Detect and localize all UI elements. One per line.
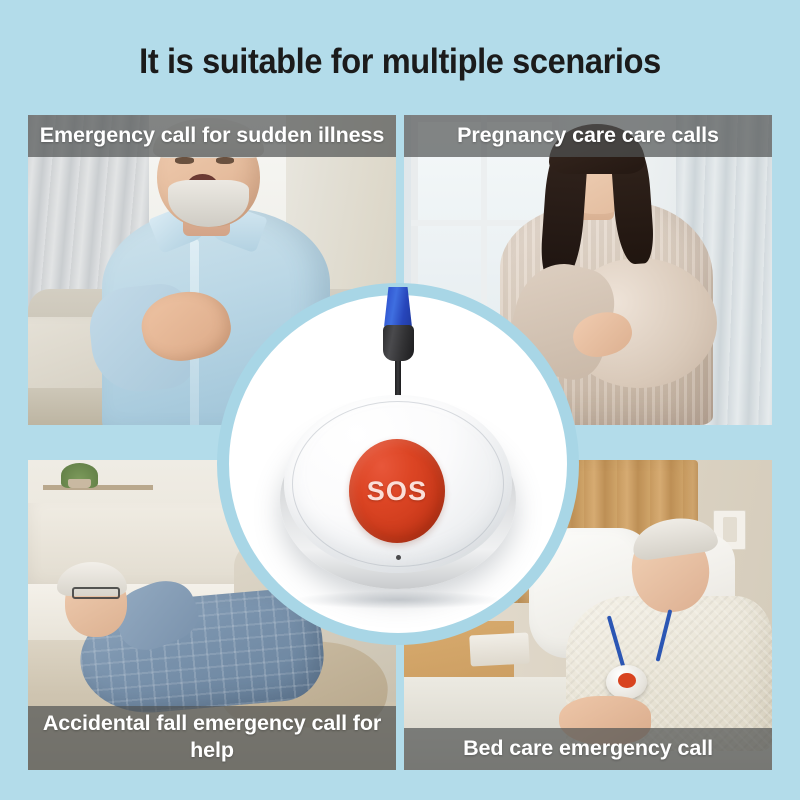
antenna-cap-icon [384, 287, 412, 327]
page-title: It is suitable for multiple scenarios [28, 42, 772, 82]
status-led-icon [396, 555, 401, 560]
antenna-connector [383, 325, 414, 361]
scenario-caption-bed-care: Bed care emergency call [404, 728, 772, 770]
product-badge: SOS [217, 283, 579, 645]
scenario-caption-pregnancy-care: Pregnancy care care calls [404, 115, 772, 157]
sos-button-label: SOS [367, 476, 428, 507]
scenario-caption-sudden-illness: Emergency call for sudden illness [28, 115, 396, 157]
poster-canvas: It is suitable for multiple scenarios [0, 0, 800, 800]
sos-device: SOS [229, 295, 567, 633]
scenario-caption-accidental-fall: Accidental fall emergency call for help [28, 706, 396, 770]
sos-button[interactable]: SOS [349, 439, 445, 543]
worn-sos-pendant [606, 665, 646, 699]
sos-device-body: SOS [280, 395, 516, 597]
